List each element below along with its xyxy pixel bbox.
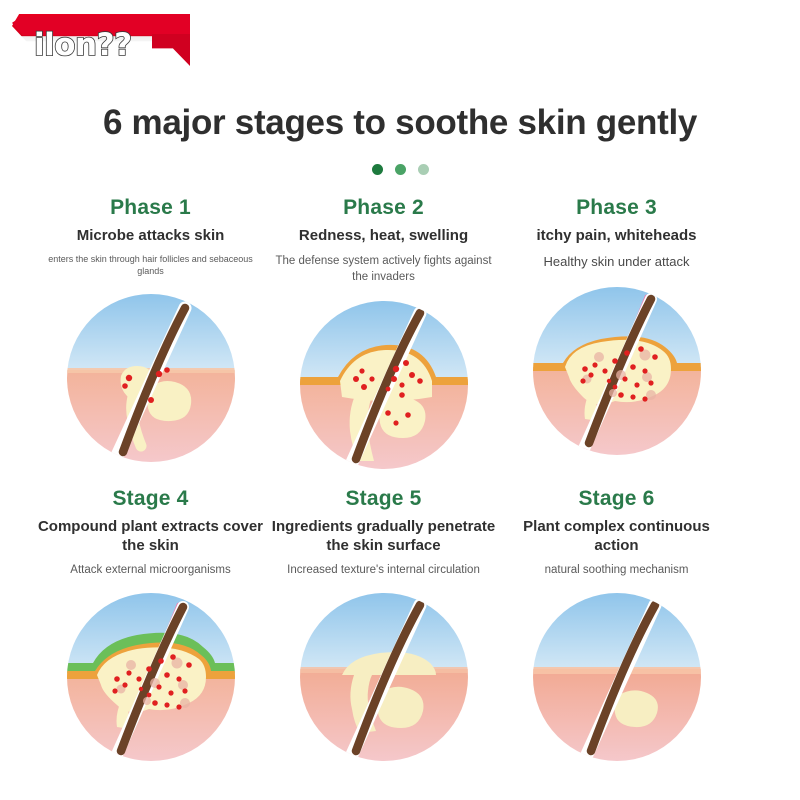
stage-caption-3: Healthy skin under attack bbox=[544, 253, 690, 271]
stage-caption-6: natural soothing mechanism bbox=[545, 562, 689, 578]
logo-ribbon-tail-shape bbox=[152, 34, 190, 66]
stage-card-6[interactable]: Stage 6 Plant complex continuous action … bbox=[500, 487, 733, 765]
stage-subtitle-2: Redness, heat, swelling bbox=[299, 227, 468, 246]
stage-card-3[interactable]: Phase 3 itchy pain, whiteheads Healthy s… bbox=[500, 196, 733, 473]
logo-text: ilon?? bbox=[34, 30, 132, 61]
stage-title-2: Phase 2 bbox=[343, 196, 424, 220]
stage-title-4: Stage 4 bbox=[112, 487, 188, 511]
infographic-page: ilon?? 6 major stages to soothe skin gen… bbox=[0, 0, 800, 800]
illustration-microbe-entry-icon bbox=[63, 290, 239, 466]
progress-dot-2[interactable] bbox=[395, 164, 406, 175]
stage-subtitle-3: itchy pain, whiteheads bbox=[536, 227, 696, 246]
progress-dot-1[interactable] bbox=[372, 164, 383, 175]
stage-subtitle-6: Plant complex continuous action bbox=[500, 518, 733, 556]
stages-row-top: Phase 1 Microbe attacks skin enters the … bbox=[0, 196, 800, 473]
stage-subtitle-1: Microbe attacks skin bbox=[77, 227, 225, 246]
stage-title-5: Stage 5 bbox=[345, 487, 421, 511]
illustration-plant-extract-icon bbox=[63, 589, 239, 765]
stage-card-1[interactable]: Phase 1 Microbe attacks skin enters the … bbox=[34, 196, 267, 473]
progress-dots bbox=[0, 164, 800, 175]
stage-card-4[interactable]: Stage 4 Compound plant extracts cover th… bbox=[34, 487, 267, 765]
page-title: 6 major stages to soothe skin gently bbox=[0, 103, 800, 143]
brand-logo[interactable]: ilon?? bbox=[12, 14, 190, 72]
illustration-penetration-icon bbox=[296, 589, 472, 765]
progress-dot-3[interactable] bbox=[418, 164, 429, 175]
illustration-inflammation-icon bbox=[296, 297, 472, 473]
stage-card-2[interactable]: Phase 2 Redness, heat, swelling The defe… bbox=[267, 196, 500, 473]
stage-caption-2: The defense system actively fights again… bbox=[267, 253, 500, 285]
stages-grid: Phase 1 Microbe attacks skin enters the … bbox=[0, 196, 800, 765]
stage-card-5[interactable]: Stage 5 Ingredients gradually penetrate … bbox=[267, 487, 500, 765]
stages-row-bottom: Stage 4 Compound plant extracts cover th… bbox=[0, 487, 800, 765]
stage-title-6: Stage 6 bbox=[578, 487, 654, 511]
stage-caption-1: enters the skin through hair follicles a… bbox=[34, 253, 267, 278]
illustration-healed-icon bbox=[529, 589, 705, 765]
stage-caption-4: Attack external microorganisms bbox=[70, 562, 230, 578]
stage-caption-5: Increased texture's internal circulation bbox=[287, 562, 480, 578]
stage-subtitle-5: Ingredients gradually penetrate the skin… bbox=[267, 518, 500, 556]
stage-title-3: Phase 3 bbox=[576, 196, 657, 220]
stage-title-1: Phase 1 bbox=[110, 196, 191, 220]
illustration-whitehead-icon bbox=[529, 283, 705, 459]
stage-subtitle-4: Compound plant extracts cover the skin bbox=[34, 518, 267, 556]
